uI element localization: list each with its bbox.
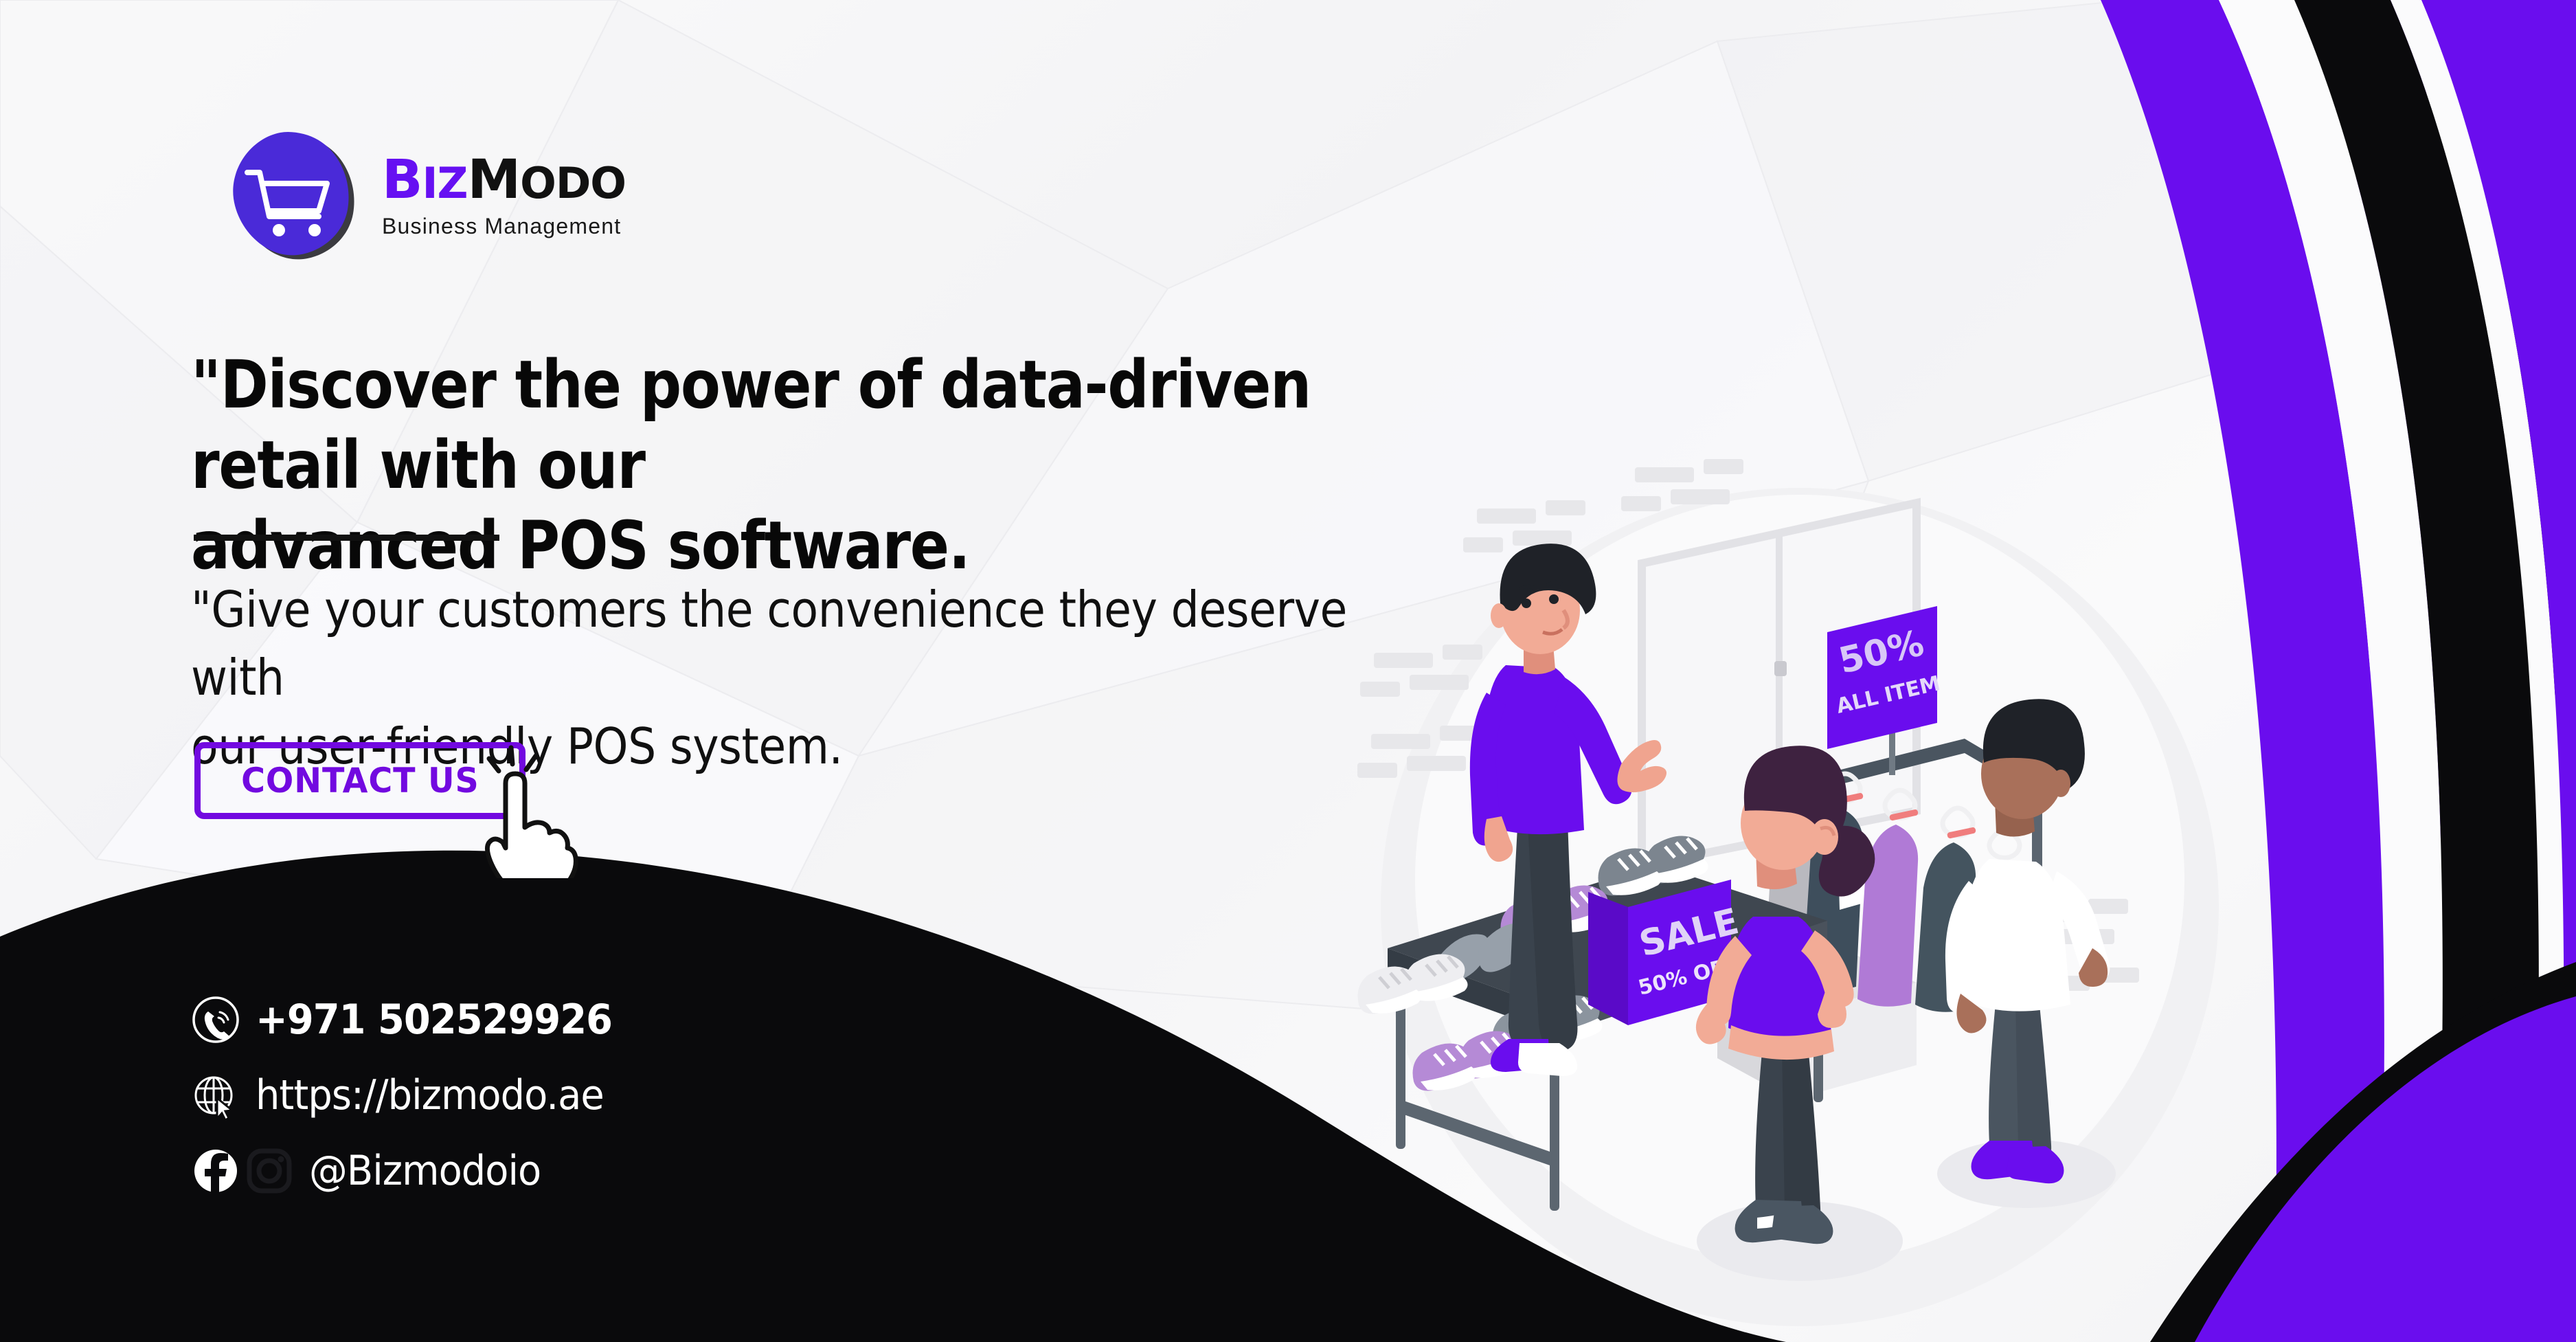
- contact-row-phone[interactable]: +971 502529926: [191, 995, 1221, 1044]
- brand-name-modo: MODO: [467, 153, 626, 207]
- contact-info-block: +971 502529926 https://bizmodo.ae: [191, 995, 1221, 1222]
- instagram-icon[interactable]: [245, 1146, 294, 1196]
- phone-circle-icon: [191, 995, 240, 1044]
- contact-us-button-label: CONTACT US: [241, 761, 479, 801]
- website-url: https://bizmodo.ae: [256, 1075, 604, 1116]
- retail-store-illustration: 50% ALL ITEM: [1346, 426, 2253, 1333]
- title-divider: [194, 535, 499, 541]
- brand-tagline: Business Management: [382, 214, 626, 239]
- subheading-line-1: "Give your customers the convenience the…: [191, 576, 1366, 713]
- brand-wordmark: BIZMODO Business Management: [382, 153, 626, 239]
- headline-line-2: advanced POS software.: [191, 506, 1430, 586]
- brand-name-biz: BIZ: [382, 153, 467, 207]
- page-title: "Discover the power of data-driven retai…: [191, 345, 1430, 586]
- contact-us-button[interactable]: CONTACT US: [194, 742, 526, 819]
- facebook-icon[interactable]: [191, 1146, 240, 1196]
- window-latch: [1774, 661, 1787, 676]
- social-handle: @Bizmodoio: [309, 1150, 541, 1192]
- phone-number: +971 502529926: [256, 999, 612, 1040]
- contact-row-social[interactable]: @Bizmodoio: [191, 1146, 1221, 1196]
- headline-line-1: "Discover the power of data-driven retai…: [191, 345, 1430, 506]
- marketing-banner: 50% ALL ITEM: [0, 0, 2576, 1342]
- contact-row-website[interactable]: https://bizmodo.ae: [191, 1071, 1221, 1120]
- brand-logo[interactable]: BIZMODO Business Management: [227, 127, 626, 265]
- globe-cursor-icon: [191, 1071, 240, 1120]
- shopping-cart-icon: [227, 127, 364, 265]
